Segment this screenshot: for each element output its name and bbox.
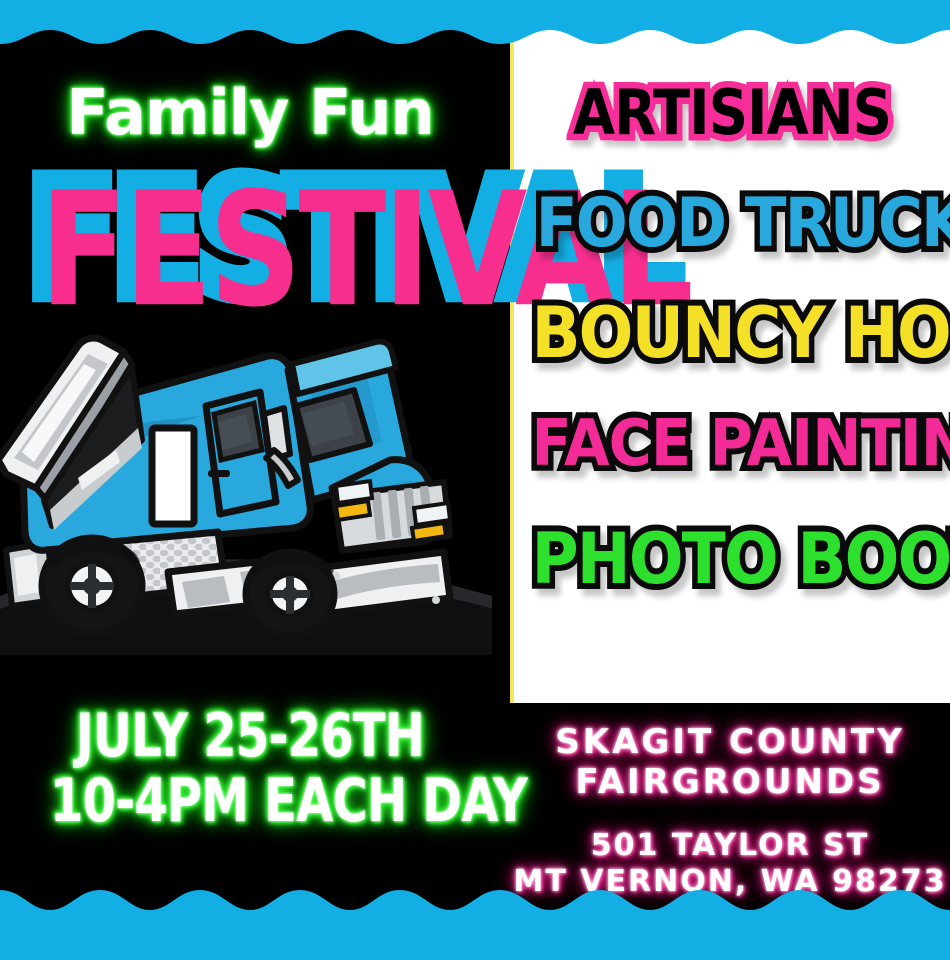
venue-address-line-1: 501 TAYLOR ST <box>510 828 950 863</box>
schedule-hours: 10-4PM EACH DAY <box>50 769 450 834</box>
festival-fill-layer: FESTIVAL <box>40 172 477 330</box>
food-truck-illustration <box>0 310 492 655</box>
feature-item-artisians: ARTISIANS <box>540 82 924 144</box>
venue-block: SKAGIT COUNTY FAIRGROUNDS 501 TAYLOR ST … <box>510 722 950 899</box>
venue-name: SKAGIT COUNTY FAIRGROUNDS <box>510 722 950 802</box>
feature-list: ARTISIANS FOOD TRUCKS BOUNCY HOUSES FACE… <box>514 62 950 682</box>
feature-item-photo-booth: PHOTO BOOTH <box>531 524 932 594</box>
page-title-eyebrow: Family Fun <box>0 76 500 149</box>
festival-poster: Family Fun FESTIVAL FESTIVAL <box>0 0 950 960</box>
venue-name-line-1: SKAGIT COUNTY <box>510 722 950 762</box>
schedule-block: JULY 25-26TH 10-4PM EACH DAY <box>0 704 500 834</box>
venue-address: 501 TAYLOR ST MT VERNON, WA 98273 <box>510 828 950 899</box>
schedule-dates: JULY 25-26TH <box>50 704 450 769</box>
feature-item-food-trucks: FOOD TRUCKS <box>536 190 928 258</box>
venue-address-line-2: MT VERNON, WA 98273 <box>510 864 950 899</box>
page-title-main: FESTIVAL FESTIVAL <box>0 166 508 326</box>
feature-item-face-painting: FACE PAINTING <box>531 412 932 476</box>
feature-item-bouncy-houses: BOUNCY HOUSES <box>531 298 932 368</box>
venue-name-line-2: FAIRGROUNDS <box>510 762 950 802</box>
